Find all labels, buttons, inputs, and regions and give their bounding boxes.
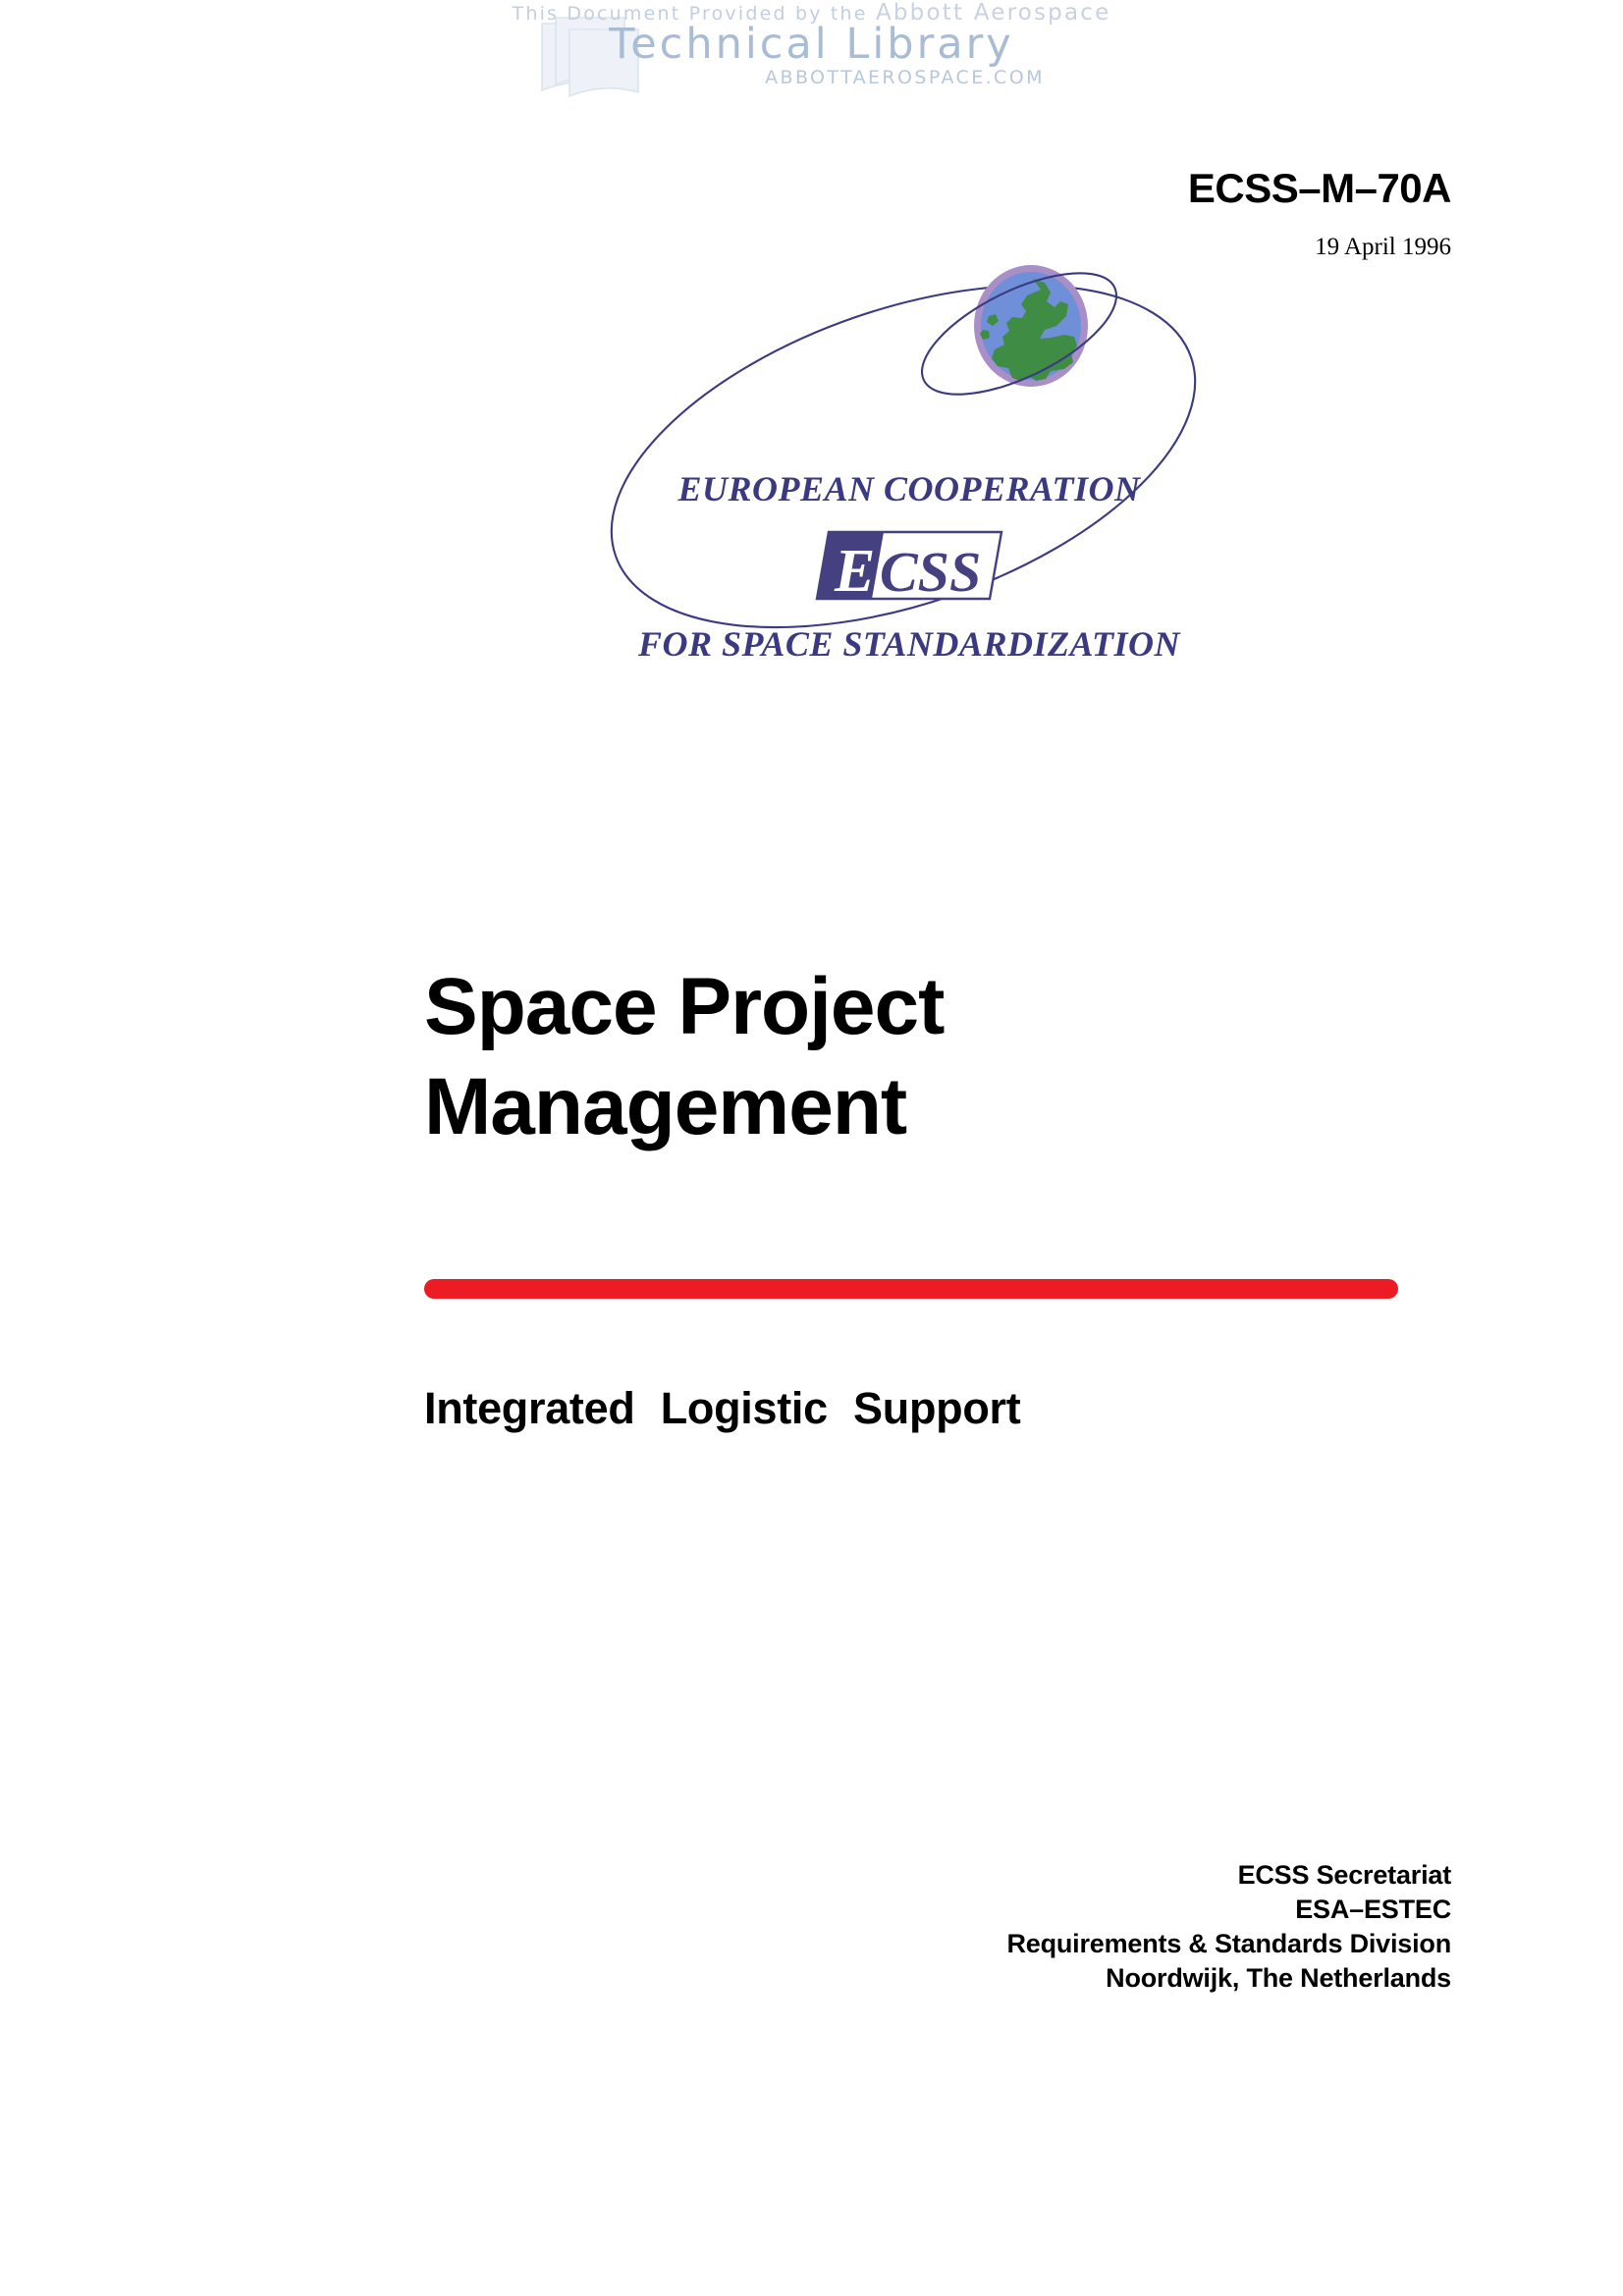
watermark-line-1-big: Abbott Aerospace — [876, 0, 1111, 26]
document-stack-icon — [538, 14, 666, 104]
publisher-line: ESA–ESTEC — [1006, 1893, 1451, 1927]
watermark-line-1-small: This Document Provided by the — [513, 3, 876, 25]
red-divider-rule — [424, 1279, 1398, 1299]
logo-top-text: EUROPEAN COOPERATION — [676, 469, 1142, 508]
publisher-line: Noordwijk, The Netherlands — [1006, 1961, 1451, 1996]
document-cover-page: This Document Provided by the Abbott Aer… — [0, 0, 1623, 2296]
document-date: 19 April 1996 — [1315, 234, 1451, 261]
watermark-line-1: This Document Provided by the Abbott Aer… — [0, 0, 1623, 26]
publisher-line: Requirements & Standards Division — [1006, 1927, 1451, 1961]
page-title-line-1: Space Project — [424, 957, 1455, 1057]
publisher-block: ECSS Secretariat ESA–ESTEC Requirements … — [1006, 1858, 1451, 1996]
page-title-line-2: Management — [424, 1057, 1455, 1157]
watermark-banner: This Document Provided by the Abbott Aer… — [0, 0, 1623, 103]
monogram-initial: E — [834, 538, 875, 605]
ecss-monogram: E CSS — [817, 532, 1001, 605]
document-id: ECSS–M–70A — [1188, 165, 1451, 212]
monogram-rest: CSS — [880, 540, 981, 604]
ecss-logo: EUROPEAN COOPERATION E CSS FOR SPACE STA… — [550, 265, 1276, 687]
watermark-line-3: ABBOTTAEROSPACE.COM — [0, 67, 1623, 88]
watermark-line-2: Technical Library — [0, 20, 1623, 69]
publisher-line: ECSS Secretariat — [1006, 1858, 1451, 1893]
page-subtitle: Integrated Logistic Support — [424, 1383, 1020, 1434]
logo-bottom-text: FOR SPACE STANDARDIZATION — [637, 624, 1181, 664]
page-title: Space Project Management — [424, 957, 1455, 1156]
